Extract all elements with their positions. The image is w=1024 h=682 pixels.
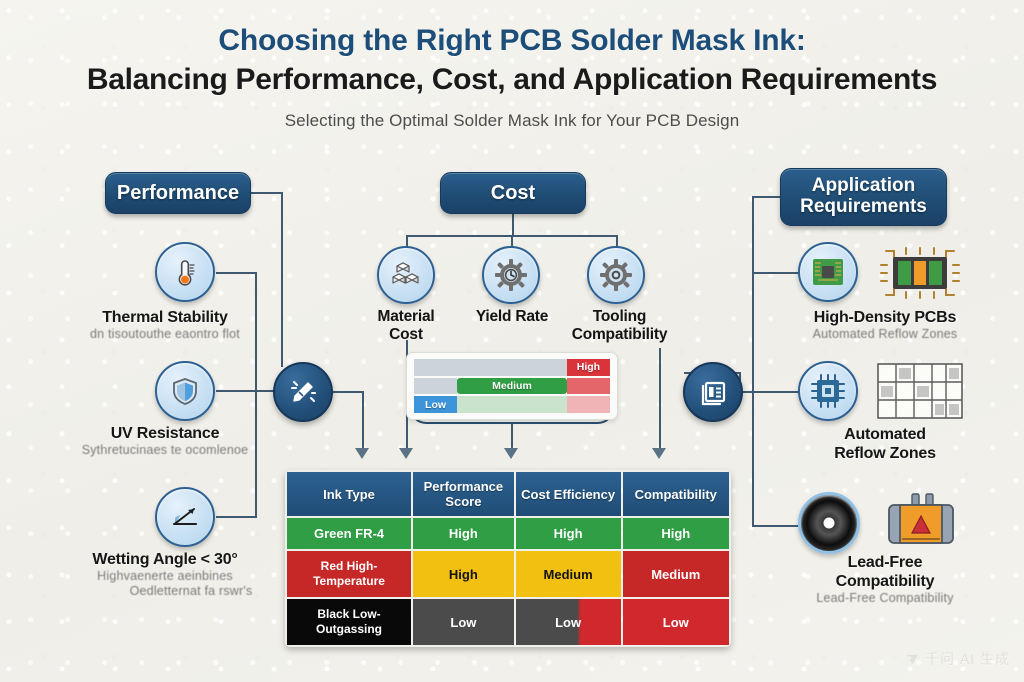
solder-ring-icon (819, 513, 839, 533)
table-cell: High (516, 518, 621, 549)
connector-line (512, 214, 514, 236)
yield-rate-icon-circle[interactable] (482, 246, 540, 304)
table-cell: Red High-Temperature (287, 551, 411, 597)
high-density-pcb-icon-circle[interactable] (798, 242, 858, 302)
watermark-logo-icon (905, 652, 920, 667)
table-header-cost-efficiency: Cost Efficiency (516, 472, 621, 516)
connector-line (752, 196, 754, 526)
automated-reflow-icon-circle[interactable] (798, 361, 858, 421)
connector-line (251, 192, 282, 194)
connector-line (216, 516, 256, 518)
branch-heading-label-line1: Application (800, 176, 927, 197)
table-cell: High (413, 518, 514, 549)
thermometer-icon (168, 255, 202, 289)
table-header-row: Ink Type Performance Score Cost Efficien… (287, 472, 729, 516)
reflow-oven-thumb (876, 362, 964, 425)
header: Choosing the Right PCB Solder Mask Ink: … (0, 22, 1024, 131)
ink-comparison-table: Ink Type Performance Score Cost Efficien… (285, 470, 731, 647)
chip-package-icon (876, 243, 964, 303)
warning-box-thumb (886, 492, 956, 557)
connector-line (752, 196, 782, 198)
arrow-down-icon (355, 448, 369, 459)
feature-label-2: Reflow Zones (760, 444, 1010, 463)
table-header-ink-type: Ink Type (287, 472, 411, 516)
feature-sublabel: Highvaenerte aeinbines (35, 569, 295, 584)
feature-sublabel-2: Oedletternat fa rswr's (35, 584, 295, 599)
table-cell: Low (516, 599, 621, 645)
table-row: Green FR-4 High High High (287, 518, 729, 549)
tooling-compatibility-icon-circle[interactable] (587, 246, 645, 304)
feature-label: UV Resistance (35, 424, 295, 443)
table-header-performance-score: Performance Score (413, 472, 514, 516)
feature-lead-free-compatibility: Lead-Free Compatibility Lead-Free Compat… (760, 553, 1010, 606)
gauge-tail (567, 396, 610, 413)
gauge-row: Low (414, 396, 610, 413)
feature-wetting-angle: Wetting Angle < 30° Highvaenerte aeinbin… (35, 550, 295, 599)
table-cell: Green FR-4 (287, 518, 411, 549)
gauge-track (457, 396, 567, 413)
page-title-line2: Balancing Performance, Cost, and Applica… (0, 60, 1024, 100)
infographic-canvas: Choosing the Right PCB Solder Mask Ink: … (0, 0, 1024, 682)
reflow-oven-icon (876, 362, 964, 420)
document-list-icon (697, 376, 729, 408)
branch-heading-cost[interactable]: Cost (440, 172, 586, 214)
uv-resistance-icon-circle[interactable] (155, 361, 215, 421)
connector-line (659, 348, 661, 450)
thermal-stability-icon-circle[interactable] (155, 242, 215, 302)
table-row: Black Low-Outgassing Low Low Low (287, 599, 729, 645)
feature-label: Automated (760, 425, 1010, 444)
brush-hub[interactable] (273, 362, 333, 422)
brush-icon (287, 376, 319, 408)
feature-high-density-pcbs: High-Density PCBs Automated Reflow Zones (760, 308, 1010, 342)
table-cell: Medium (516, 551, 621, 597)
feature-label: Material (346, 308, 466, 326)
material-cost-icon-circle[interactable] (377, 246, 435, 304)
pcb-chip-icon (808, 252, 848, 292)
feature-sublabel: dn tisoutouthe eaontro flot (35, 327, 295, 342)
feature-material-cost: Material Cost (346, 308, 466, 344)
wetting-angle-icon-circle[interactable] (155, 487, 215, 547)
gauge-row: High (414, 359, 610, 376)
connector-line (752, 272, 798, 274)
feature-label: Yield Rate (457, 308, 567, 326)
feature-label-2: Compatibility (552, 326, 687, 344)
connector-line (216, 272, 256, 274)
watermark-text: 千问 AI 生成 (925, 649, 1010, 669)
feature-automated-reflow-zones: Automated Reflow Zones (760, 425, 1010, 463)
gauge-track (414, 359, 567, 376)
gear-clock-icon (493, 257, 529, 293)
feature-label: Wetting Angle < 30° (35, 550, 295, 569)
gauge-segment-low: Low (414, 396, 457, 413)
connector-line (330, 391, 364, 393)
feature-label-2: Compatibility (760, 572, 1010, 591)
feature-thermal-stability: Thermal Stability dn tisoutouthe eaontro… (35, 308, 295, 342)
angle-icon (168, 500, 202, 534)
connector-line (511, 424, 513, 450)
feature-label: High-Density PCBs (760, 308, 1010, 327)
shield-icon (169, 375, 201, 407)
gauge-tail (567, 378, 610, 395)
watermark: 千问 AI 生成 (905, 649, 1010, 669)
table-cell: Black Low-Outgassing (287, 599, 411, 645)
lead-free-icon-circle[interactable] (798, 492, 860, 554)
connector-line (752, 525, 798, 527)
arrow-down-icon (399, 448, 413, 459)
feature-label-2: Cost (346, 326, 466, 344)
gauge-segment-high: High (567, 359, 610, 376)
branch-heading-performance[interactable]: Performance (105, 172, 251, 214)
cubes-icon (389, 258, 423, 292)
connector-line (216, 390, 274, 392)
branch-heading-label: Performance (117, 182, 239, 204)
cost-level-gauge-chart: High Medium Low (406, 352, 618, 420)
feature-sublabel: Lead-Free Compatibility (760, 591, 1010, 606)
feature-uv-resistance: UV Resistance Sythretucinaes te ocomleno… (35, 424, 295, 458)
page-subtitle: Selecting the Optimal Solder Mask Ink fo… (0, 111, 1024, 131)
feature-label: Lead-Free (760, 553, 1010, 572)
connector-line (362, 392, 364, 450)
gear-icon (598, 257, 634, 293)
feature-tooling-compatibility: Tooling Compatibility (552, 308, 687, 344)
branch-heading-label-line2: Requirements (800, 197, 927, 218)
feature-sublabel: Automated Reflow Zones (760, 327, 1010, 342)
table-cell: High (413, 551, 514, 597)
arrow-down-icon (652, 448, 666, 459)
spec-hub[interactable] (683, 362, 743, 422)
processor-icon (808, 371, 848, 411)
gauge-track (414, 378, 457, 395)
table-cell: Low (623, 599, 729, 645)
feature-yield-rate: Yield Rate (457, 308, 567, 326)
feature-sublabel: Sythretucinaes te ocomlenoe (35, 443, 295, 458)
connector-line (738, 391, 798, 393)
page-title-line1: Choosing the Right PCB Solder Mask Ink: (0, 22, 1024, 60)
table-header-compatibility: Compatibility (623, 472, 729, 516)
table-cell: High (623, 518, 729, 549)
table-row: Red High-Temperature High Medium Medium (287, 551, 729, 597)
branch-heading-label: Cost (491, 182, 535, 204)
gauge-segment-medium: Medium (457, 378, 567, 395)
branch-heading-application[interactable]: Application Requirements (780, 168, 947, 226)
warning-device-icon (886, 492, 956, 552)
feature-label: Tooling (552, 308, 687, 326)
table-cell: Low (413, 599, 514, 645)
gauge-row: Medium (414, 378, 610, 395)
arrow-down-icon (504, 448, 518, 459)
feature-label: Thermal Stability (35, 308, 295, 327)
table-cell: Medium (623, 551, 729, 597)
chip-package-thumb (876, 243, 964, 308)
